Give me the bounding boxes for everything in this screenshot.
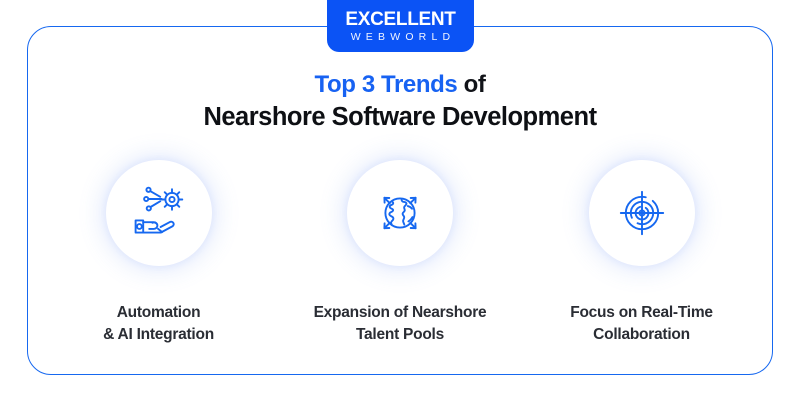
globe-expand-arrows-icon — [370, 183, 430, 243]
infographic-canvas: EXCELLENT WEBWORLD Top 3 Trends of Nears… — [0, 0, 800, 400]
brand-logo-badge[interactable]: EXCELLENT WEBWORLD — [327, 0, 474, 52]
target-crosshair-icon — [612, 183, 672, 243]
brand-logo-secondary: WEBWORLD — [346, 30, 456, 45]
page-title: Top 3 Trends of Nearshore Software Devel… — [0, 70, 800, 133]
title-accent: Top 3 Trends — [315, 71, 458, 98]
trend-item-automation: Automation & AI Integration — [38, 160, 279, 346]
robotic-hand-gear-icon — [128, 182, 190, 244]
trend-list: Automation & AI Integration — [38, 160, 762, 346]
trend-label-collaboration: Focus on Real-Time Collaboration — [570, 302, 713, 346]
title-line-2: Nearshore Software Development — [0, 101, 800, 133]
brand-logo-primary: EXCELLENT — [345, 10, 455, 30]
trend-item-collaboration: Focus on Real-Time Collaboration — [521, 160, 762, 346]
icon-badge-automation — [106, 160, 212, 266]
icon-badge-collaboration — [589, 160, 695, 266]
title-line-1: Top 3 Trends of — [0, 70, 800, 100]
title-accent-tail: of — [457, 71, 485, 98]
trend-label-talent-pools: Expansion of Nearshore Talent Pools — [314, 302, 487, 346]
trend-label-automation: Automation & AI Integration — [103, 302, 214, 346]
trend-item-talent-pools: Expansion of Nearshore Talent Pools — [280, 160, 521, 346]
icon-badge-talent-pools — [347, 160, 453, 266]
